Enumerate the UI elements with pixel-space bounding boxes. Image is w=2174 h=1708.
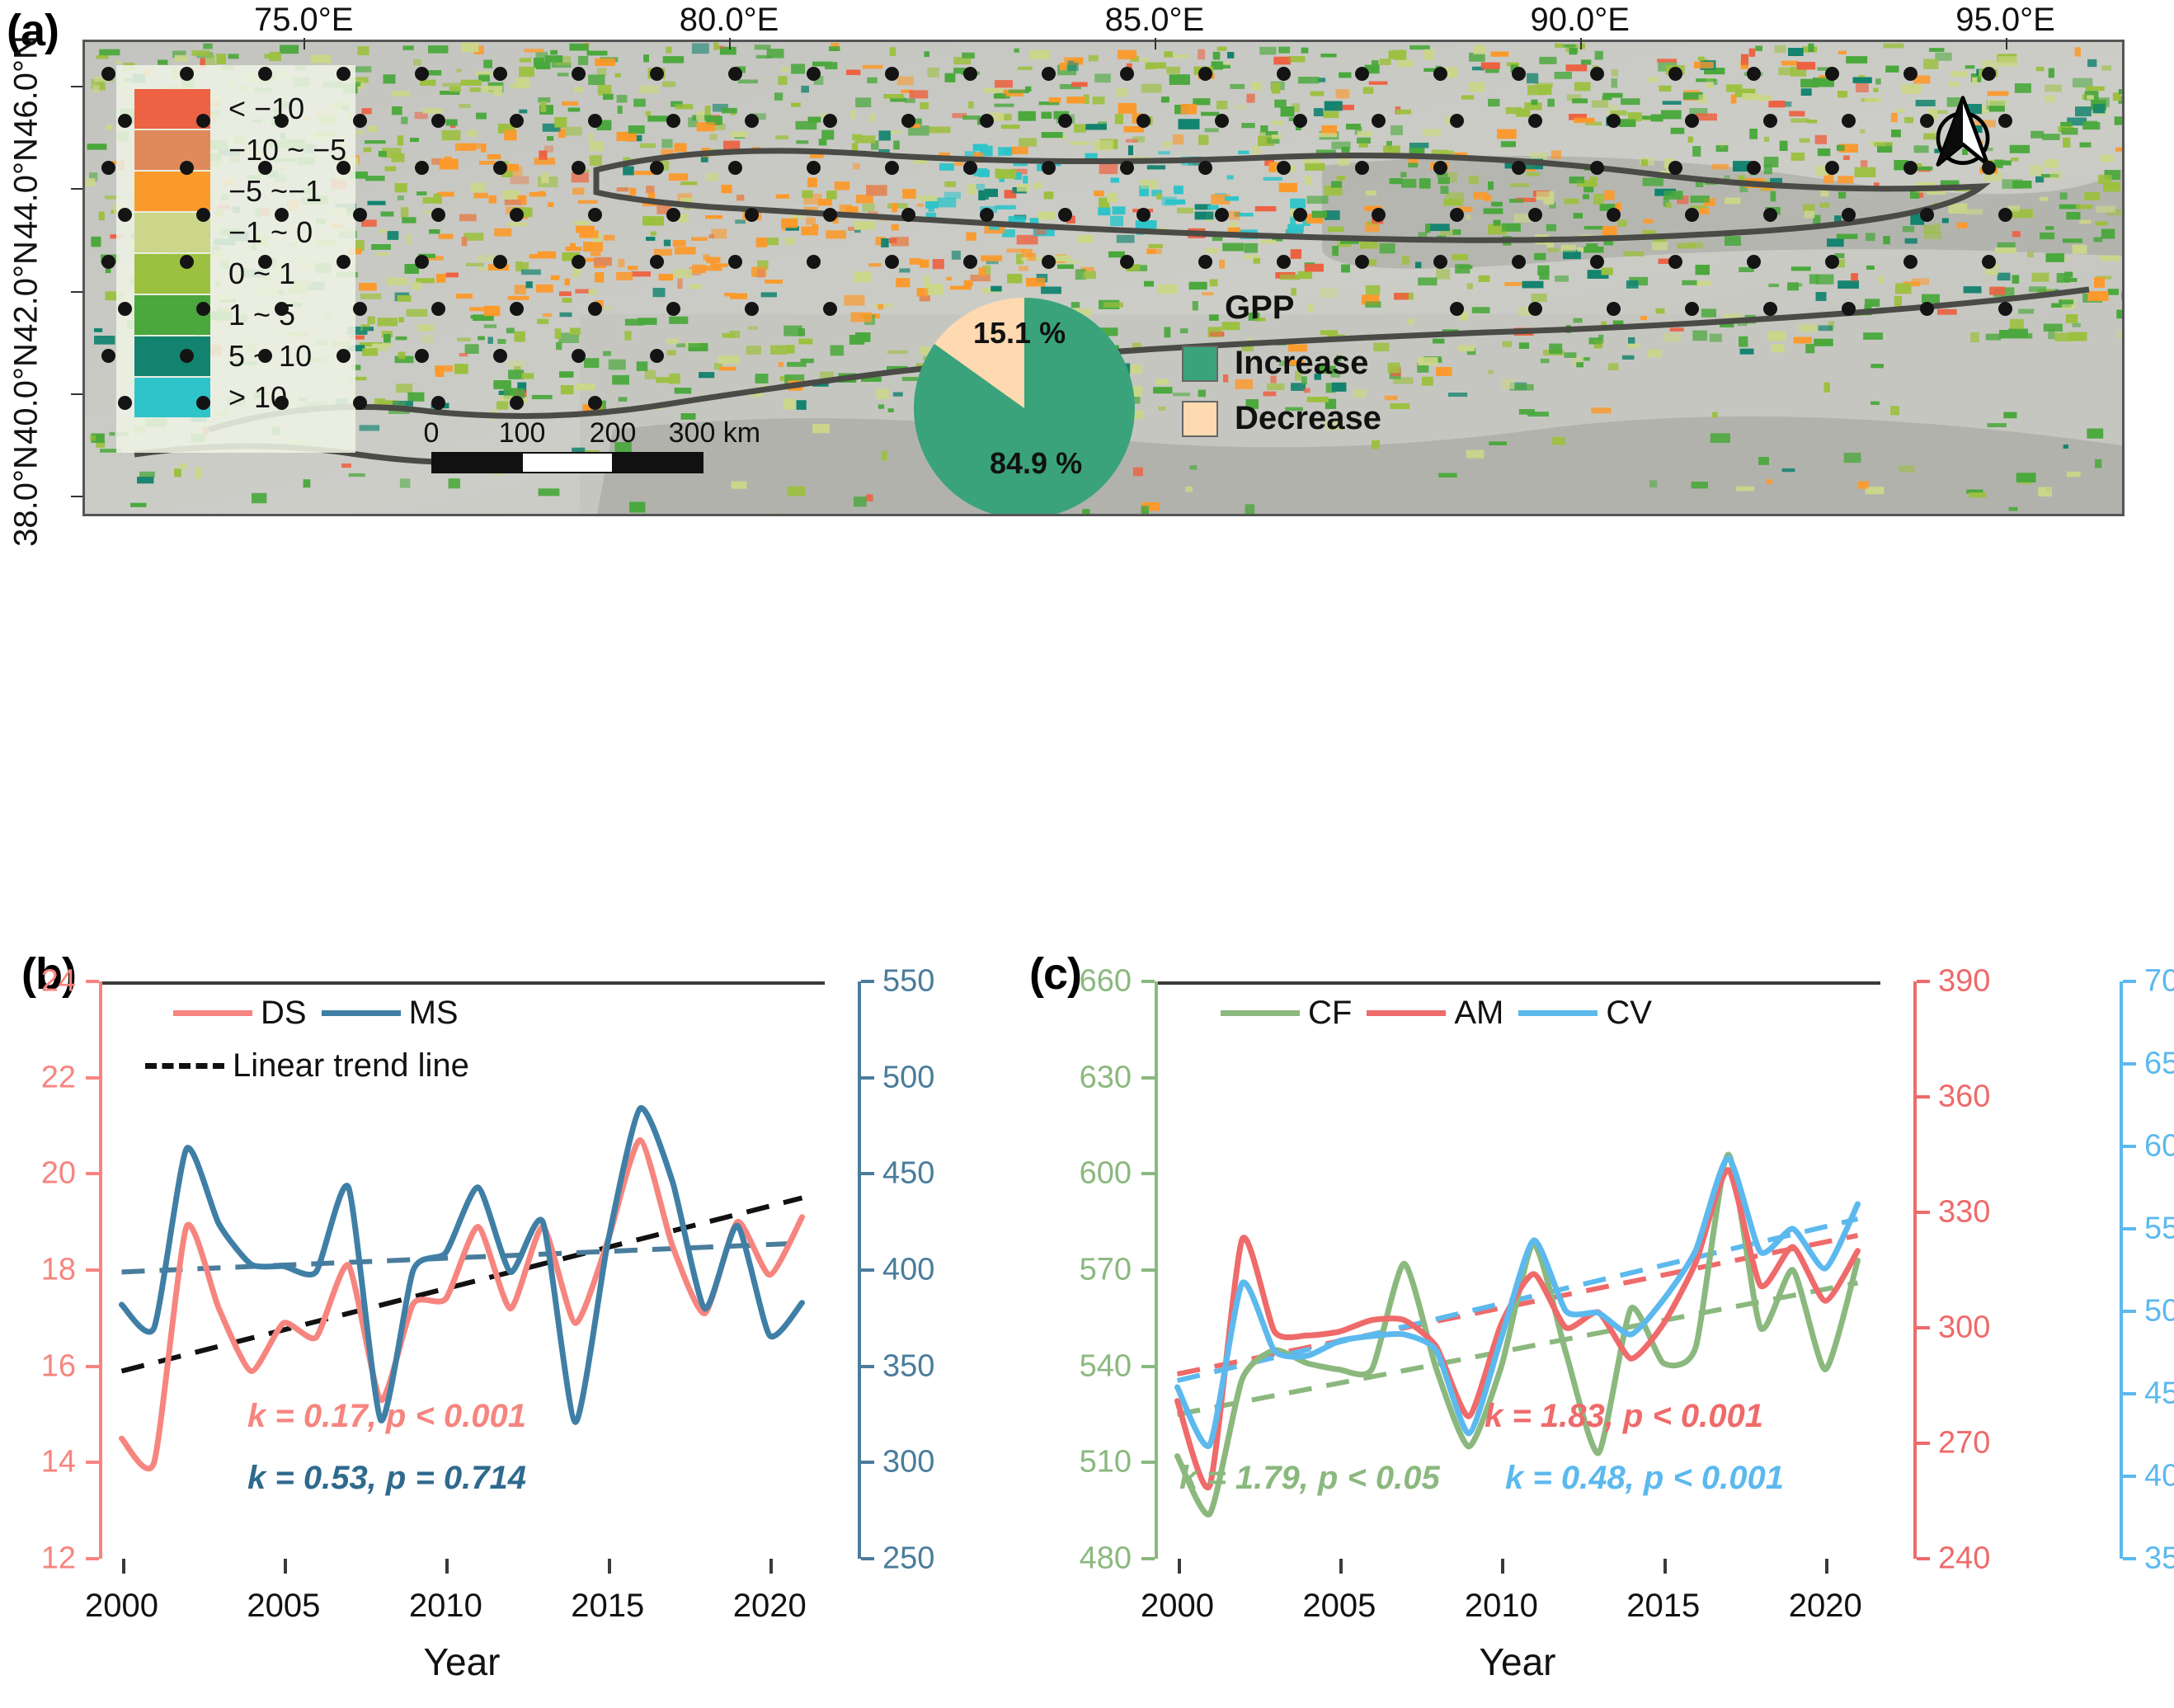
y-tick-label: 350 bbox=[882, 1348, 934, 1384]
y-tick bbox=[1917, 980, 1930, 983]
sample-site-dot bbox=[1842, 114, 1856, 128]
gpp-swatch-increase bbox=[1182, 346, 1218, 382]
sample-site-dot bbox=[275, 396, 289, 410]
longitude-tick bbox=[304, 38, 305, 49]
sample-site-dot bbox=[1903, 255, 1918, 269]
x-tick-label: 2020 bbox=[1789, 1588, 1862, 1625]
sample-site-dot bbox=[1685, 114, 1699, 128]
latitude-tick bbox=[71, 291, 82, 293]
sample-site-dot bbox=[885, 255, 899, 269]
sample-site-dot bbox=[728, 67, 742, 81]
sample-site-dot bbox=[885, 67, 899, 81]
y-tick-label: 660 bbox=[1080, 964, 1132, 1000]
y-tick-label: 300 bbox=[1938, 1310, 1990, 1346]
sample-site-dot bbox=[1998, 302, 2012, 316]
trend-annotation: k = 0.53, p = 0.714 bbox=[247, 1460, 526, 1497]
sample-site-dot bbox=[1590, 255, 1604, 269]
north-arrow-icon bbox=[1924, 93, 2002, 171]
y-tick bbox=[1141, 1461, 1155, 1464]
sample-site-dot bbox=[1590, 67, 1604, 81]
y-tick bbox=[2123, 1557, 2136, 1560]
y-axis-left: 12141618202224 bbox=[99, 981, 102, 1559]
sample-site-dot bbox=[807, 161, 821, 175]
y-tick bbox=[1141, 1268, 1155, 1272]
sample-site-dot bbox=[1607, 114, 1621, 128]
map-frame[interactable]: < −10−10 ~ −5−5 ~−1−1 ~ 00 ~ 11 ~ 55 ~ 1… bbox=[82, 40, 2125, 516]
scale-bar-tick-label: 100 bbox=[499, 417, 546, 449]
sample-site-dot bbox=[415, 255, 429, 269]
sample-site-dot bbox=[588, 208, 602, 222]
chart-panel-b[interactable]: 20002005201020152020Year1214161820222425… bbox=[99, 981, 825, 1559]
sample-site-dot bbox=[180, 255, 194, 269]
sample-site-dot bbox=[1355, 255, 1369, 269]
sample-site-dot bbox=[336, 67, 351, 81]
longitude-label: 95.0°E bbox=[1955, 2, 2055, 39]
trend-annotation: k = 0.48, p < 0.001 bbox=[1505, 1460, 1784, 1497]
sample-site-dot bbox=[1920, 302, 1934, 316]
map-panel: (a) bbox=[0, 0, 2174, 924]
gpp-legend-title: GPP bbox=[1225, 289, 1381, 327]
sample-site-dot bbox=[336, 161, 351, 175]
x-axis-title: Year bbox=[424, 1640, 501, 1684]
sample-site-dot bbox=[823, 114, 837, 128]
x-tick-label: 2010 bbox=[409, 1588, 482, 1625]
y-tick bbox=[1141, 1076, 1155, 1080]
longitude-tick bbox=[1580, 38, 1582, 49]
y-tick-label: 55 bbox=[2144, 1212, 2174, 1247]
latitude-tick bbox=[71, 393, 82, 395]
scale-bar-tick-label: 200 bbox=[590, 417, 637, 449]
sample-site-dot bbox=[196, 302, 210, 316]
sample-site-dot bbox=[572, 67, 586, 81]
y-tick bbox=[86, 1461, 99, 1464]
pie-label-decrease: 15.1 % bbox=[973, 316, 1066, 351]
sample-site-dot bbox=[1433, 255, 1447, 269]
legend-swatch bbox=[1221, 1010, 1300, 1016]
y-tick-label: 20 bbox=[41, 1156, 76, 1192]
sample-site-dot bbox=[431, 302, 445, 316]
sample-site-dot bbox=[1982, 255, 1996, 269]
y-tick-label: 24 bbox=[41, 964, 76, 1000]
sample-site-dot bbox=[180, 67, 194, 81]
longitude-tick bbox=[1155, 38, 1156, 49]
y-tick bbox=[1917, 1442, 1930, 1445]
legend-label: CF bbox=[1308, 995, 1352, 1032]
y-tick-label: 600 bbox=[1080, 1156, 1132, 1192]
sample-site-dot bbox=[101, 349, 115, 363]
sample-site-dot bbox=[1277, 255, 1291, 269]
map-legend-item: 0 ~ 1 bbox=[134, 253, 355, 294]
map-legend-label: −1 ~ 0 bbox=[228, 215, 313, 250]
sample-site-dot bbox=[1450, 114, 1464, 128]
y-tick-label: 50 bbox=[2144, 1294, 2174, 1329]
map-legend-item: −1 ~ 0 bbox=[134, 212, 355, 253]
y-axis-right2: 3540455055606570 bbox=[2120, 981, 2123, 1559]
scale-bar-labels: 0100200300 km bbox=[431, 417, 703, 452]
sample-site-dot bbox=[1763, 208, 1777, 222]
sample-site-dot bbox=[1842, 302, 1856, 316]
legend-row: Linear trend line bbox=[145, 1047, 484, 1085]
y-axis-right: 250300350400450500550 bbox=[858, 981, 861, 1559]
sample-site-dot bbox=[1607, 302, 1621, 316]
sample-site-dot bbox=[1763, 114, 1777, 128]
map-legend-label: −10 ~ −5 bbox=[228, 133, 346, 167]
x-axis-title: Year bbox=[1480, 1640, 1556, 1684]
y-tick bbox=[1141, 1365, 1155, 1368]
y-tick bbox=[1141, 1172, 1155, 1175]
legend-label: DS bbox=[261, 995, 307, 1032]
chart-panel-c[interactable]: 20002005201020152020Year4805105405706006… bbox=[1155, 981, 1880, 1559]
y-tick bbox=[86, 1365, 99, 1368]
y-tick-label: 270 bbox=[1938, 1426, 1990, 1461]
sample-site-dot bbox=[1293, 208, 1307, 222]
x-tick bbox=[122, 1559, 125, 1574]
sample-site-dot bbox=[1528, 208, 1542, 222]
x-tick bbox=[769, 1559, 773, 1574]
y-tick bbox=[861, 980, 874, 983]
y-tick-label: 250 bbox=[882, 1541, 934, 1577]
x-tick-label: 2000 bbox=[85, 1588, 158, 1625]
x-tick-label: 2020 bbox=[733, 1588, 807, 1625]
sample-site-dot bbox=[1215, 114, 1229, 128]
y-tick-label: 60 bbox=[2144, 1129, 2174, 1165]
y-tick-label: 12 bbox=[41, 1541, 76, 1577]
sample-site-dot bbox=[1825, 67, 1839, 81]
legend-label: Linear trend line bbox=[233, 1047, 469, 1085]
trend-line bbox=[122, 1198, 802, 1372]
sample-site-dot bbox=[431, 208, 445, 222]
sample-site-dot bbox=[1747, 67, 1761, 81]
y-tick-label: 630 bbox=[1080, 1060, 1132, 1095]
sample-site-dot bbox=[901, 114, 915, 128]
map-legend-item: 1 ~ 5 bbox=[134, 294, 355, 336]
sample-site-dot bbox=[196, 114, 210, 128]
sample-site-dot bbox=[572, 349, 586, 363]
sample-site-dot bbox=[258, 349, 272, 363]
scale-bar-tick-label: 300 km bbox=[669, 417, 761, 449]
x-tick-label: 2015 bbox=[1626, 1588, 1700, 1625]
y-tick bbox=[2123, 1145, 2136, 1148]
y-tick bbox=[1141, 980, 1155, 983]
map-legend: < −10−10 ~ −5−5 ~−1−1 ~ 00 ~ 11 ~ 55 ~ 1… bbox=[116, 65, 355, 453]
sample-site-dot bbox=[963, 67, 977, 81]
sample-site-dot bbox=[510, 302, 524, 316]
sample-site-dot bbox=[1685, 302, 1699, 316]
sample-site-dot bbox=[1042, 255, 1056, 269]
y-tick bbox=[861, 1172, 874, 1175]
y-tick-label: 500 bbox=[882, 1060, 934, 1095]
pie-chart: 15.1 % 84.9 % bbox=[914, 298, 1135, 516]
map-legend-item: < −10 bbox=[134, 88, 355, 129]
y-tick-label: 22 bbox=[41, 1060, 76, 1095]
y-tick bbox=[861, 1076, 874, 1080]
sample-site-dot bbox=[666, 208, 680, 222]
y-tick bbox=[861, 1268, 874, 1272]
sample-site-dot bbox=[1607, 208, 1621, 222]
sample-site-dot bbox=[745, 302, 759, 316]
sample-site-dot bbox=[180, 349, 194, 363]
y-tick-label: 18 bbox=[41, 1253, 76, 1288]
pie-label-increase: 84.9 % bbox=[990, 446, 1082, 481]
y-tick bbox=[2123, 980, 2136, 983]
y-tick-label: 360 bbox=[1938, 1080, 1990, 1115]
x-tick bbox=[608, 1559, 611, 1574]
sample-site-dot bbox=[415, 349, 429, 363]
map-legend-item: −10 ~ −5 bbox=[134, 129, 355, 171]
gpp-label-increase: Increase bbox=[1235, 345, 1368, 382]
x-tick bbox=[1339, 1559, 1343, 1574]
latitude-tick bbox=[71, 496, 82, 497]
trend-annotation: k = 1.79, p < 0.05 bbox=[1179, 1460, 1440, 1497]
map-legend-swatch bbox=[134, 336, 210, 376]
sample-site-dot bbox=[588, 396, 602, 410]
y-tick-label: 480 bbox=[1080, 1541, 1132, 1577]
map-legend-item: −5 ~−1 bbox=[134, 171, 355, 212]
sample-site-dot bbox=[196, 208, 210, 222]
sample-site-dot bbox=[1433, 161, 1447, 175]
sample-site-dot bbox=[1825, 161, 1839, 175]
y-axis-left: 480510540570600630660 bbox=[1155, 981, 1158, 1559]
longitude-label: 85.0°E bbox=[1105, 2, 1205, 39]
sample-site-dot bbox=[901, 208, 915, 222]
sample-site-dot bbox=[807, 67, 821, 81]
legend-dash-swatch bbox=[145, 1063, 224, 1069]
sample-site-dot bbox=[1903, 161, 1918, 175]
sample-site-dot bbox=[336, 255, 351, 269]
sample-site-dot bbox=[1512, 161, 1526, 175]
x-tick-label: 2000 bbox=[1141, 1588, 1214, 1625]
sample-site-dot bbox=[1433, 67, 1447, 81]
sample-site-dot bbox=[180, 161, 194, 175]
x-tick bbox=[1825, 1559, 1828, 1574]
sample-site-dot bbox=[1120, 255, 1134, 269]
sample-site-dot bbox=[196, 396, 210, 410]
sample-site-dot bbox=[353, 114, 367, 128]
sample-site-dot bbox=[572, 255, 586, 269]
sample-site-dot bbox=[1372, 208, 1386, 222]
y-tick bbox=[86, 1557, 99, 1560]
gpp-label-decrease: Decrease bbox=[1235, 400, 1381, 437]
sample-site-dot bbox=[1998, 114, 2012, 128]
sample-site-dot bbox=[1450, 208, 1464, 222]
y-tick-label: 570 bbox=[1080, 1253, 1132, 1288]
sample-site-dot bbox=[101, 255, 115, 269]
y-tick-label: 65 bbox=[2144, 1047, 2174, 1082]
y-tick bbox=[86, 980, 99, 983]
sample-site-dot bbox=[963, 255, 977, 269]
latitude-tick bbox=[71, 188, 82, 190]
sample-site-dot bbox=[1372, 114, 1386, 128]
legend-swatch bbox=[1518, 1010, 1598, 1016]
sample-site-dot bbox=[728, 255, 742, 269]
sample-site-dot bbox=[1528, 302, 1542, 316]
sample-site-dot bbox=[650, 349, 664, 363]
sample-site-dot bbox=[415, 67, 429, 81]
y-tick-label: 40 bbox=[2144, 1459, 2174, 1494]
y-tick-label: 390 bbox=[1938, 964, 1990, 1000]
y-axis-right1: 240270300330360390 bbox=[1913, 981, 1917, 1559]
sample-site-dot bbox=[1668, 67, 1682, 81]
sample-site-dot bbox=[650, 255, 664, 269]
sample-site-dot bbox=[1920, 114, 1934, 128]
sample-site-dot bbox=[1747, 255, 1761, 269]
x-tick-label: 2015 bbox=[571, 1588, 644, 1625]
sample-site-dot bbox=[510, 208, 524, 222]
sample-site-dot bbox=[823, 208, 837, 222]
y-tick bbox=[2123, 1062, 2136, 1066]
sample-site-dot bbox=[745, 114, 759, 128]
sample-site-dot bbox=[1355, 67, 1369, 81]
x-tick-label: 2010 bbox=[1465, 1588, 1538, 1625]
map-legend-swatch bbox=[134, 295, 210, 335]
sample-site-dot bbox=[493, 161, 507, 175]
latitude-tick bbox=[71, 86, 82, 87]
sample-site-dot bbox=[258, 255, 272, 269]
sample-site-dot bbox=[353, 396, 367, 410]
gpp-legend: GPP Increase Decrease bbox=[1182, 289, 1381, 437]
y-tick bbox=[86, 1076, 99, 1080]
sample-site-dot bbox=[1355, 161, 1369, 175]
scale-bar-tick-label: 0 bbox=[424, 417, 440, 449]
panel-label-c: (c) bbox=[1029, 948, 1081, 1000]
gpp-legend-item-decrease: Decrease bbox=[1182, 400, 1381, 437]
map-legend-swatch bbox=[134, 130, 210, 170]
sample-site-dot bbox=[1293, 114, 1307, 128]
scale-bar: 0100200300 km bbox=[431, 417, 703, 473]
sample-site-dot bbox=[1042, 67, 1056, 81]
sample-site-dot bbox=[1277, 161, 1291, 175]
x-tick bbox=[1178, 1559, 1181, 1574]
y-tick-label: 300 bbox=[882, 1445, 934, 1480]
trend-annotation: k = 1.83, p < 0.001 bbox=[1485, 1398, 1763, 1435]
sample-site-dot bbox=[101, 161, 115, 175]
map-legend-item: > 10 bbox=[134, 377, 355, 418]
sample-site-dot bbox=[650, 67, 664, 81]
sample-site-dot bbox=[1120, 67, 1134, 81]
y-tick bbox=[861, 1365, 874, 1368]
sample-site-dot bbox=[588, 114, 602, 128]
legend-swatch bbox=[322, 1010, 401, 1016]
sample-site-dot bbox=[431, 396, 445, 410]
legend-row: DSMS bbox=[173, 995, 473, 1032]
trend-annotation: k = 0.17, p < 0.001 bbox=[247, 1398, 526, 1435]
scale-bar-graphic bbox=[431, 452, 703, 473]
latitude-label: 38.0°N bbox=[8, 431, 45, 562]
sample-site-dot bbox=[963, 161, 977, 175]
sample-site-dot bbox=[666, 302, 680, 316]
sample-site-dot bbox=[275, 302, 289, 316]
sample-site-dot bbox=[1120, 161, 1134, 175]
sample-site-dot bbox=[588, 302, 602, 316]
map-legend-label: < −10 bbox=[228, 92, 304, 126]
sample-site-dot bbox=[1198, 67, 1212, 81]
sample-site-dot bbox=[431, 114, 445, 128]
sample-site-dot bbox=[1215, 208, 1229, 222]
sample-site-dot bbox=[807, 255, 821, 269]
sample-site-dot bbox=[510, 396, 524, 410]
sample-site-dot bbox=[415, 161, 429, 175]
y-tick bbox=[1141, 1557, 1155, 1560]
y-tick-label: 450 bbox=[882, 1156, 934, 1192]
sample-site-dot bbox=[1277, 67, 1291, 81]
longitude-label: 90.0°E bbox=[1530, 2, 1630, 39]
longitude-tick bbox=[2006, 38, 2007, 49]
legend-swatch bbox=[173, 1010, 252, 1016]
sample-site-dot bbox=[1998, 208, 2012, 222]
sample-site-dot bbox=[1136, 114, 1151, 128]
sample-site-dot bbox=[493, 349, 507, 363]
sample-site-dot bbox=[101, 67, 115, 81]
y-tick-label: 240 bbox=[1938, 1541, 1990, 1577]
y-tick-label: 14 bbox=[41, 1445, 76, 1480]
sample-site-dot bbox=[823, 302, 837, 316]
y-tick bbox=[86, 1268, 99, 1272]
sample-site-dot bbox=[1450, 302, 1464, 316]
series-line bbox=[1178, 1170, 1858, 1488]
sample-site-dot bbox=[353, 302, 367, 316]
sample-site-dot bbox=[118, 208, 132, 222]
map-legend-item: 5 ~ 10 bbox=[134, 336, 355, 377]
legend-label: AM bbox=[1454, 995, 1503, 1032]
sample-site-dot bbox=[510, 114, 524, 128]
y-tick bbox=[861, 1557, 874, 1560]
sample-site-dot bbox=[1685, 208, 1699, 222]
sample-site-dot bbox=[1042, 161, 1056, 175]
y-tick bbox=[2123, 1310, 2136, 1313]
sample-site-dot bbox=[275, 114, 289, 128]
longitude-tick bbox=[729, 38, 731, 49]
map-legend-swatch bbox=[134, 254, 210, 294]
sample-site-dot bbox=[1747, 161, 1761, 175]
sample-site-dot bbox=[118, 114, 132, 128]
sample-site-dot bbox=[1982, 67, 1996, 81]
sample-site-dot bbox=[118, 396, 132, 410]
y-tick bbox=[2123, 1392, 2136, 1395]
x-tick bbox=[1501, 1559, 1504, 1574]
y-tick bbox=[1917, 1211, 1930, 1214]
x-tick-label: 2005 bbox=[247, 1588, 320, 1625]
sample-site-dot bbox=[1528, 114, 1542, 128]
y-tick bbox=[2123, 1475, 2136, 1478]
gpp-swatch-decrease bbox=[1182, 401, 1218, 437]
y-tick-label: 16 bbox=[41, 1348, 76, 1384]
sample-site-dot bbox=[493, 255, 507, 269]
y-tick-label: 540 bbox=[1080, 1348, 1132, 1384]
sample-site-dot bbox=[885, 161, 899, 175]
sample-site-dot bbox=[1136, 208, 1151, 222]
sample-site-dot bbox=[1763, 302, 1777, 316]
sample-site-dot bbox=[118, 302, 132, 316]
sample-site-dot bbox=[1668, 161, 1682, 175]
x-tick bbox=[445, 1559, 449, 1574]
sample-site-dot bbox=[650, 161, 664, 175]
sample-site-dot bbox=[745, 208, 759, 222]
sample-site-dot bbox=[1842, 208, 1856, 222]
x-tick bbox=[1663, 1559, 1667, 1574]
y-tick-label: 550 bbox=[882, 964, 934, 1000]
sample-site-dot bbox=[1198, 255, 1212, 269]
sample-site-dot bbox=[258, 67, 272, 81]
legend-swatch bbox=[1367, 1010, 1446, 1016]
x-tick-label: 2005 bbox=[1302, 1588, 1376, 1625]
longitude-label: 75.0°E bbox=[254, 2, 354, 39]
sample-site-dot bbox=[728, 161, 742, 175]
legend-row: CFAMCV bbox=[1221, 995, 1667, 1032]
y-tick-label: 70 bbox=[2144, 964, 2174, 1000]
sample-site-dot bbox=[1058, 114, 1072, 128]
sample-site-dot bbox=[980, 114, 994, 128]
sample-site-dot bbox=[275, 208, 289, 222]
